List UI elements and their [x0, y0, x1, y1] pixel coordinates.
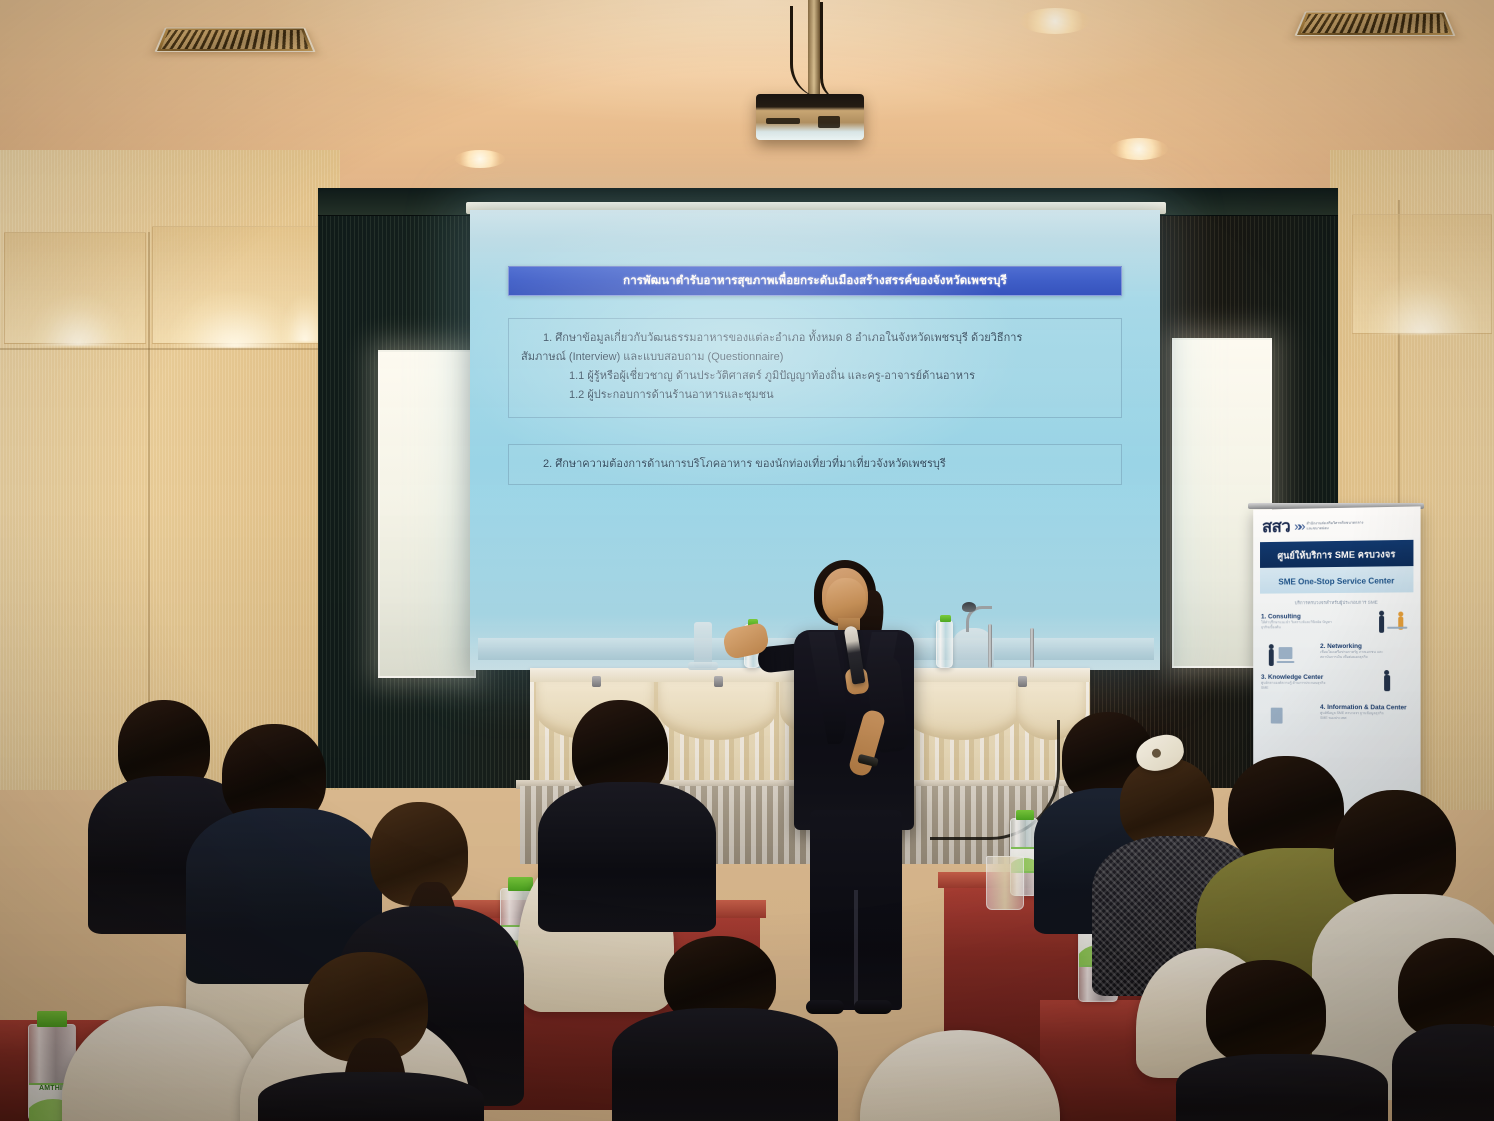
projector-lens [818, 116, 840, 128]
skirt-clip [714, 676, 723, 687]
audience-torso [258, 1072, 484, 1121]
projector-cable [820, 2, 842, 100]
award-trophy-base [688, 662, 718, 670]
banner-item-title: 4. Information & Data Center [1320, 703, 1412, 711]
recessed-downlight [1110, 138, 1168, 160]
ceiling-air-vent [1294, 12, 1455, 36]
banner-item-title: 2. Networking [1320, 642, 1412, 649]
recessed-downlight [455, 150, 505, 168]
banner-service-item: 2. Networking เชื่อมโยงเครือข่ายภาครัฐ ภ… [1261, 642, 1412, 660]
wall-panel-seam [0, 348, 340, 350]
banner-item-body: ศูนย์กลางองค์ความรู้ ด้านการประกอบธุรกิจ… [1261, 681, 1332, 692]
audience-torso [538, 782, 716, 932]
recessed-downlight [1020, 8, 1090, 34]
audience-member [612, 936, 832, 1121]
audience-member [538, 700, 714, 920]
chevron-right-icon: »» [1294, 520, 1302, 533]
slide-subbullet-1-1: 1.1 ผู้รู้หรือผู้เชี่ยวชาญ ด้านประวัติศา… [521, 367, 1109, 386]
banner-service-item: 3. Knowledge Center ศูนย์กลางองค์ความรู้… [1261, 674, 1412, 692]
banner-headline-bar: ศูนย์ให้บริการ SME ครบวงจร [1260, 540, 1413, 568]
slide-content-box-2: 2. ศึกษาความต้องการด้านการบริโภคอาหาร ขอ… [508, 444, 1122, 485]
wall-light-panel-left [378, 350, 476, 678]
slide-content-box-1: 1. ศึกษาข้อมูลเกี่ยวกับวัฒนธรรมอาหารของแ… [508, 318, 1122, 418]
bottle-cap [1016, 810, 1034, 820]
wall-wash-light [1368, 256, 1478, 334]
networking-pictogram [1265, 641, 1298, 671]
slide-bullet-2: 2. ศึกษาความต้องการด้านการบริโภคอาหาร ขอ… [521, 455, 1109, 474]
banner-service-item: 4. Information & Data Center ศูนย์ข้อมูล… [1261, 703, 1412, 721]
slide-title-bar: การพัฒนาตำรับอาหารสุขภาพเพื่อยกระดับเมือ… [508, 266, 1122, 296]
pictogram-desk [1387, 627, 1407, 629]
ceiling-air-vent [154, 28, 315, 52]
bottle-cap [37, 1011, 67, 1027]
skirt-clip [1018, 676, 1027, 687]
banner-logo: สสว »» สำนักงานส่งเสริมวิสาหกิจขนาดกลางแ… [1253, 506, 1420, 539]
pictogram-person [1269, 649, 1274, 666]
pictogram-person [1384, 675, 1390, 691]
banner-service-item: 1. Consulting ให้คำปรึกษาแนะนำ วิเคราะห์… [1261, 613, 1412, 631]
slide-title: การพัฒนาตำรับอาหารสุขภาพเพื่อยกระดับเมือ… [623, 272, 1007, 290]
banner-logo-subtitle: สำนักงานส่งเสริมวิสาหกิจขนาดกลางและขนาดย… [1307, 520, 1369, 531]
wall-wash-light [30, 278, 126, 346]
banner-service-list: 1. Consulting ให้คำปรึกษาแนะนำ วิเคราะห์… [1253, 610, 1420, 726]
banner-subhead-bar: SME One-Stop Service Center [1260, 566, 1413, 594]
slide-subbullet-1-2: 1.2 ผู้ประกอบการด้านร้านอาหารและชุมชน [521, 386, 1109, 405]
audience-head [1206, 960, 1326, 1066]
banner-item-body: ให้คำปรึกษาแนะนำ วิเคราะห์และวินิจฉัย ปั… [1261, 620, 1332, 631]
slide-bullet-1: 1. ศึกษาข้อมูลเกี่ยวกับวัฒนธรรมอาหารของแ… [521, 329, 1109, 348]
audience-torso [1176, 1054, 1388, 1121]
banner-headline-text: ศูนย์ให้บริการ SME ครบวงจร [1277, 549, 1395, 561]
sme-logo-text: สสว [1262, 518, 1290, 535]
wall-wash-light [170, 274, 300, 348]
microphone-head [962, 602, 976, 612]
pictogram-desk [1277, 661, 1295, 663]
audience-member [1392, 938, 1494, 1121]
microphone-stand [1030, 628, 1034, 668]
data-center-pictogram [1267, 703, 1300, 733]
audience-member [1176, 960, 1376, 1121]
skirt-clip [592, 676, 601, 687]
banner-item-body: ศูนย์ข้อมูล SME ครบวงจร ฐานข้อมูลธุรกิจ … [1320, 710, 1392, 721]
audience-torso [612, 1008, 838, 1121]
knowledge-center-pictogram [1372, 668, 1406, 698]
drinking-glass [986, 856, 1024, 910]
presenter-leg-split [854, 890, 858, 1006]
seminar-photo-scene: การพัฒนาตำรับอาหารสุขภาพเพื่อยกระดับเมือ… [0, 0, 1494, 1121]
pictogram-head [1269, 644, 1274, 649]
presenter-shoe-right [854, 1000, 892, 1014]
audience-member [258, 952, 478, 1121]
ceiling-projector [756, 94, 864, 140]
consulting-pictogram [1376, 608, 1410, 638]
banner-subhead-text: SME One-Stop Service Center [1278, 576, 1394, 586]
pictogram-person [1379, 616, 1384, 633]
projector-vent [766, 118, 800, 124]
banner-item-body: เชื่อมโยงเครือข่ายภาครัฐ ภาคเอกชน และสถา… [1320, 649, 1392, 660]
pictogram-server [1271, 707, 1283, 723]
pictogram-monitor [1279, 647, 1293, 659]
slide-bullet-1-cont: สัมภาษณ์ (Interview) และแบบสอบถาม (Quest… [521, 348, 1109, 367]
audience-torso [1392, 1024, 1494, 1121]
